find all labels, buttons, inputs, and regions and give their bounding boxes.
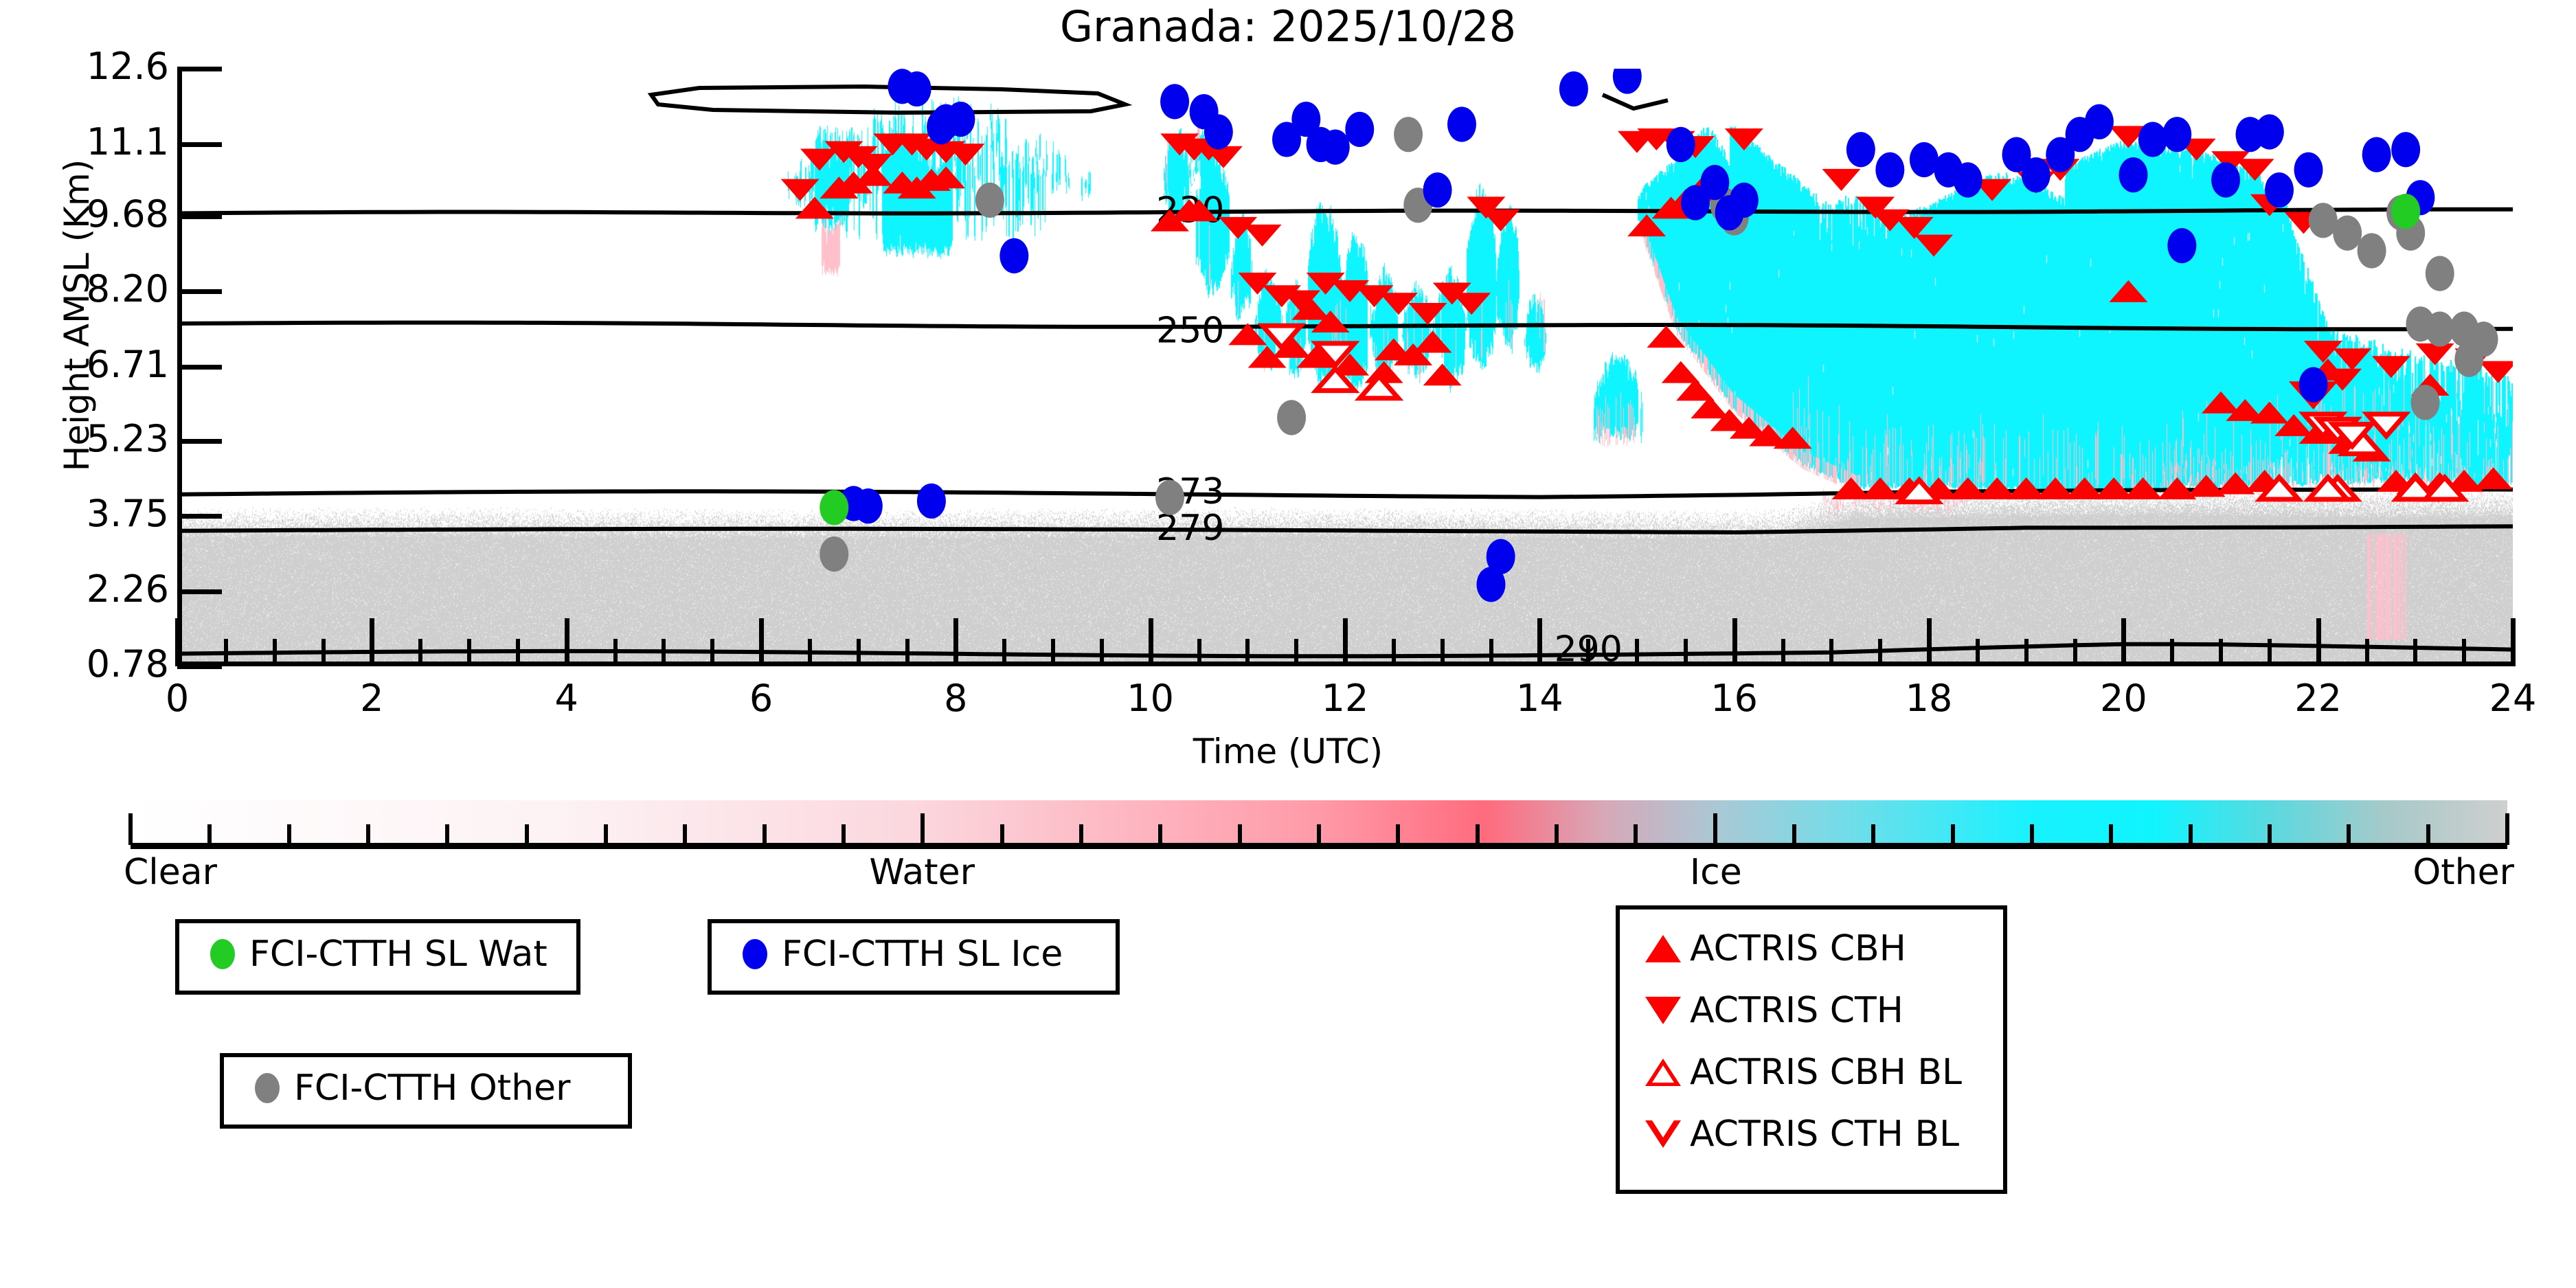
- x-tick-minor: [1051, 639, 1055, 666]
- colorbar-label: Water: [819, 852, 1025, 893]
- y-tick: [177, 664, 222, 669]
- x-tick-minor: [1878, 639, 1882, 666]
- data-point-circle: [999, 238, 1028, 273]
- data-point-circle: [2294, 152, 2323, 188]
- data-point-circle: [820, 490, 848, 525]
- data-point-circle: [1204, 114, 1233, 149]
- x-tick-minor: [1100, 639, 1104, 666]
- data-point-triangle-down: [800, 148, 839, 170]
- colorbar-tick: [683, 824, 687, 845]
- data-point-circle: [1155, 480, 1184, 515]
- colorbar-tick: [841, 824, 846, 845]
- colorbar-label: Ice: [1613, 852, 1819, 893]
- legend-item[interactable]: ACTRIS CBH BL: [1636, 1041, 2003, 1103]
- x-tick-minor: [321, 639, 326, 666]
- y-tick-label: 2.26: [0, 571, 169, 608]
- data-point-circle: [2299, 367, 2328, 402]
- legend-label: FCI-CTTH SL Ice: [782, 934, 1063, 975]
- colorbar-tick: [604, 824, 608, 845]
- legend-circle-icon: [743, 939, 767, 969]
- colorbar-tick: [445, 824, 449, 845]
- x-tick: [175, 618, 180, 666]
- legend-item[interactable]: ACTRIS CTH BL: [1636, 1103, 2003, 1165]
- x-tick-minor: [2073, 639, 2077, 666]
- x-tick-minor: [905, 639, 909, 666]
- legend-swatch: [1636, 1120, 1690, 1148]
- data-point-circle: [1730, 183, 1759, 218]
- x-tick: [953, 618, 958, 666]
- colorbar-tick: [1000, 824, 1004, 845]
- x-axis-title: Time (UTC): [0, 732, 2576, 771]
- legend-label: ACTRIS CTH: [1690, 990, 1903, 1031]
- x-tick-label: 20: [2055, 677, 2192, 720]
- y-tick: [177, 439, 222, 444]
- colorbar-tick: [2426, 824, 2430, 845]
- colorbar-tick: [1555, 824, 1559, 845]
- data-point-circle: [975, 183, 1004, 218]
- colorbar-tick: [1238, 824, 1242, 845]
- colorbar-tick: [1396, 824, 1400, 845]
- data-point-circle: [2167, 228, 2196, 263]
- x-tick-minor: [1635, 639, 1639, 666]
- x-tick: [1927, 618, 1932, 666]
- data-point-triangle-down: [2416, 343, 2454, 365]
- y-tick-label: 12.6: [0, 48, 169, 85]
- legend-swatch: [240, 1073, 294, 1103]
- data-point-circle: [1423, 172, 1452, 207]
- data-point-triangle-down: [2236, 159, 2274, 181]
- x-tick-minor: [1586, 639, 1590, 666]
- x-tick-minor: [418, 639, 422, 666]
- target-classification-plot: 230250273279290: [177, 69, 2513, 666]
- x-tick-minor: [808, 639, 812, 666]
- data-point-circle: [903, 71, 931, 106]
- y-tick: [177, 514, 222, 519]
- legend-label: FCI-CTTH SL Wat: [249, 934, 547, 975]
- data-point-triangle-down: [1822, 169, 1861, 191]
- y-tick-label: 5.23: [0, 420, 169, 457]
- y-tick: [177, 365, 222, 370]
- colorbar-tick: [2109, 824, 2113, 845]
- data-point-circle: [927, 109, 956, 144]
- x-tick-minor: [613, 639, 618, 666]
- data-point-triangle-down: [1452, 293, 1491, 315]
- x-tick-minor: [1829, 639, 1833, 666]
- data-point-circle: [2138, 122, 2167, 157]
- legend-swatch: [728, 939, 782, 969]
- x-tick-minor: [2024, 639, 2029, 666]
- colorbar-tick: [525, 824, 529, 845]
- data-point-circle: [1447, 106, 1476, 142]
- colorbar-tick: [2505, 813, 2509, 845]
- colorbar-tick: [1317, 824, 1321, 845]
- data-point-triangle-up: [1662, 361, 1700, 383]
- legend-item[interactable]: FCI-CTTH SL Ice: [728, 923, 1116, 985]
- x-tick-minor: [2462, 639, 2466, 666]
- legend-actris[interactable]: ACTRIS CBH ACTRIS CTH ACTRIS CBH BL ACTR…: [1616, 905, 2007, 1194]
- y-tick: [177, 142, 222, 147]
- x-tick: [1343, 618, 1348, 666]
- legend-swatch: [1636, 997, 1690, 1024]
- colorbar-tick: [2347, 824, 2351, 845]
- x-tick-minor: [516, 639, 520, 666]
- x-tick: [565, 618, 569, 666]
- x-tick-minor: [1197, 639, 1201, 666]
- x-tick-minor: [1489, 639, 1493, 666]
- x-tick-minor: [1002, 639, 1006, 666]
- y-tick-label: 6.71: [0, 346, 169, 383]
- legend-triangle-down-icon: [1645, 997, 1681, 1024]
- data-point-triangle-up: [1647, 326, 1686, 348]
- x-tick-label: 22: [2250, 677, 2387, 720]
- y-tick-label: 9.68: [0, 196, 169, 233]
- data-point-triangle-up: [2474, 467, 2513, 489]
- data-point-triangle-down: [1482, 210, 1520, 231]
- data-point-circle: [1954, 162, 1982, 197]
- figure-root: Granada: 2025/10/28 230250273279290 Heig…: [0, 0, 2576, 1288]
- x-tick: [759, 618, 764, 666]
- x-tick-minor: [1684, 639, 1688, 666]
- x-tick: [2121, 618, 2126, 666]
- legend-fci-ctth-sl-ice[interactable]: FCI-CTTH SL Ice: [708, 919, 1120, 995]
- data-point-circle: [2411, 385, 2440, 420]
- x-tick: [2511, 618, 2516, 666]
- data-point-circle: [1667, 127, 1695, 162]
- colorbar-tick: [1158, 824, 1162, 845]
- legend-item[interactable]: FCI-CTTH Other: [240, 1057, 628, 1119]
- data-point-triangle-down: [2333, 348, 2371, 370]
- x-tick-label: 16: [1666, 677, 1803, 720]
- data-point-circle: [2085, 104, 2114, 139]
- x-tick-label: 2: [303, 677, 440, 720]
- data-point-circle: [1875, 152, 1904, 188]
- colorbar-tick: [1079, 824, 1083, 845]
- x-tick-label: 6: [692, 677, 830, 720]
- x-tick-minor: [2268, 639, 2272, 666]
- isotherm-line: [1603, 95, 1668, 109]
- y-tick-label: 8.20: [0, 271, 169, 308]
- x-tick-label: 18: [1860, 677, 1998, 720]
- legend-swatch: [196, 939, 249, 969]
- x-tick-minor: [662, 639, 666, 666]
- colorbar-tick: [1634, 824, 1638, 845]
- data-point-circle: [2362, 137, 2391, 172]
- legend-fci-ctth-other[interactable]: FCI-CTTH Other: [220, 1053, 632, 1129]
- data-point-circle: [854, 488, 883, 523]
- x-tick-label: 14: [1471, 677, 1608, 720]
- data-point-circle: [1160, 84, 1189, 119]
- legend-label: ACTRIS CTH BL: [1690, 1114, 1959, 1155]
- data-point-circle: [2022, 157, 2050, 192]
- data-point-circle: [2358, 233, 2386, 268]
- data-point-circle: [2265, 172, 2294, 207]
- x-tick-label: 24: [2444, 677, 2576, 720]
- x-tick: [1732, 618, 1737, 666]
- data-point-circle: [820, 536, 848, 572]
- x-tick-minor: [1440, 639, 1445, 666]
- data-point-circle: [1846, 132, 1875, 167]
- colorbar-tick: [1951, 824, 1955, 845]
- data-point-circle: [1277, 400, 1306, 435]
- data-point-circle: [1681, 185, 1710, 220]
- colorbar-tick: [2268, 824, 2272, 845]
- colorbar-label: Clear: [124, 852, 217, 893]
- data-point-circle: [1321, 129, 1350, 164]
- colorbar-tick: [1476, 824, 1480, 845]
- y-tick: [177, 289, 222, 294]
- colorbar-tick: [762, 824, 767, 845]
- x-tick-minor: [1976, 639, 1980, 666]
- colorbar-tick: [1713, 813, 1717, 845]
- data-point-triangle-down: [1914, 235, 1953, 257]
- colorbar-tick: [128, 813, 133, 845]
- colorbar-tick: [2189, 824, 2193, 845]
- data-point-circle: [1394, 117, 1423, 152]
- x-tick-minor: [2170, 639, 2174, 666]
- colorbar-tick: [1871, 824, 1875, 845]
- legend-label: FCI-CTTH Other: [294, 1067, 571, 1109]
- x-tick-minor: [1392, 639, 1396, 666]
- legend-item[interactable]: FCI-CTTH SL Wat: [196, 923, 576, 985]
- x-tick-minor: [2365, 639, 2369, 666]
- isotherm-label: 250: [1156, 310, 1224, 352]
- legend-item[interactable]: ACTRIS CTH: [1636, 980, 2003, 1041]
- data-point-triangle-down: [2372, 356, 2410, 378]
- legend-fci-ctth-sl-wat[interactable]: FCI-CTTH SL Wat: [175, 919, 580, 995]
- data-point-circle: [1477, 567, 1506, 602]
- colorbar-tick: [287, 824, 291, 845]
- marker-overlay: 230250273279290: [177, 69, 2513, 666]
- x-tick-minor: [2219, 639, 2223, 666]
- colorbar-tick: [1792, 824, 1796, 845]
- y-tick: [177, 589, 222, 594]
- isotherm-line: [177, 210, 2513, 214]
- x-tick-minor: [224, 639, 228, 666]
- colorbar-tick: [366, 824, 370, 845]
- data-point-circle: [2162, 117, 2191, 152]
- x-tick-label: 0: [109, 677, 246, 720]
- x-tick-minor: [273, 639, 277, 666]
- data-point-triangle-up: [795, 196, 834, 218]
- y-tick: [177, 214, 222, 219]
- data-point-circle: [2119, 157, 2148, 192]
- x-tick-minor: [1781, 639, 1785, 666]
- data-point-triangle-down: [781, 179, 820, 201]
- legend-triangle-up-icon: [1645, 935, 1681, 962]
- data-point-circle: [917, 484, 946, 519]
- colorbar-tick: [920, 813, 925, 845]
- data-point-triangle-down: [2479, 361, 2513, 383]
- data-point-circle: [1559, 71, 1588, 106]
- data-point-triangle-up: [2109, 280, 2147, 302]
- x-tick: [370, 618, 374, 666]
- data-point-circle: [2211, 162, 2240, 197]
- x-tick-minor: [857, 639, 861, 666]
- x-tick: [1537, 618, 1542, 666]
- x-tick-minor: [1294, 639, 1298, 666]
- y-tick: [177, 67, 222, 71]
- data-point-triangle-up: [1423, 363, 1462, 385]
- y-tick-label: 11.1: [0, 124, 169, 161]
- x-tick-label: 10: [1082, 677, 1219, 720]
- data-point-triangle-up: [2202, 392, 2240, 414]
- page-title: Granada: 2025/10/28: [0, 1, 2576, 52]
- colorbar-label: Other: [2377, 852, 2514, 893]
- data-point-triangle-down: [1725, 128, 1763, 150]
- x-tick-label: 4: [498, 677, 635, 720]
- isotherm-line: [177, 526, 2513, 532]
- data-point-triangle-down: [1243, 225, 1282, 247]
- data-point-triangle-down: [1408, 303, 1447, 325]
- legend-circle-icon: [210, 939, 235, 969]
- y-tick-label: 3.75: [0, 495, 169, 532]
- x-tick-minor: [1245, 639, 1250, 666]
- data-point-circle: [1345, 112, 1374, 147]
- x-tick-minor: [2413, 639, 2417, 666]
- legend-swatch: [1636, 935, 1690, 962]
- data-point-circle: [2391, 194, 2420, 229]
- x-tick: [2316, 618, 2321, 666]
- data-point-circle: [1613, 69, 1642, 94]
- x-tick: [1149, 618, 1153, 666]
- legend-triangle-up-open-icon: [1645, 1059, 1681, 1086]
- data-point-circle: [2454, 342, 2483, 377]
- data-point-circle: [2426, 256, 2454, 291]
- legend-swatch: [1636, 1059, 1690, 1086]
- x-tick-minor: [467, 639, 471, 666]
- x-tick-label: 8: [887, 677, 1024, 720]
- x-tick-minor: [710, 639, 714, 666]
- legend-item[interactable]: ACTRIS CBH: [1636, 918, 2003, 980]
- legend-circle-icon: [255, 1073, 280, 1103]
- colorbar-tick: [2030, 824, 2034, 845]
- data-point-circle: [2255, 114, 2284, 149]
- legend-triangle-down-open-icon: [1645, 1120, 1681, 1148]
- legend-label: ACTRIS CBH BL: [1690, 1052, 1962, 1093]
- colorbar-tick: [207, 824, 212, 845]
- data-point-triangle-up: [1414, 330, 1452, 352]
- data-point-circle: [2333, 216, 2362, 251]
- legend-label: ACTRIS CBH: [1690, 928, 1906, 969]
- data-point-circle: [2391, 132, 2420, 167]
- x-tick-label: 12: [1276, 677, 1414, 720]
